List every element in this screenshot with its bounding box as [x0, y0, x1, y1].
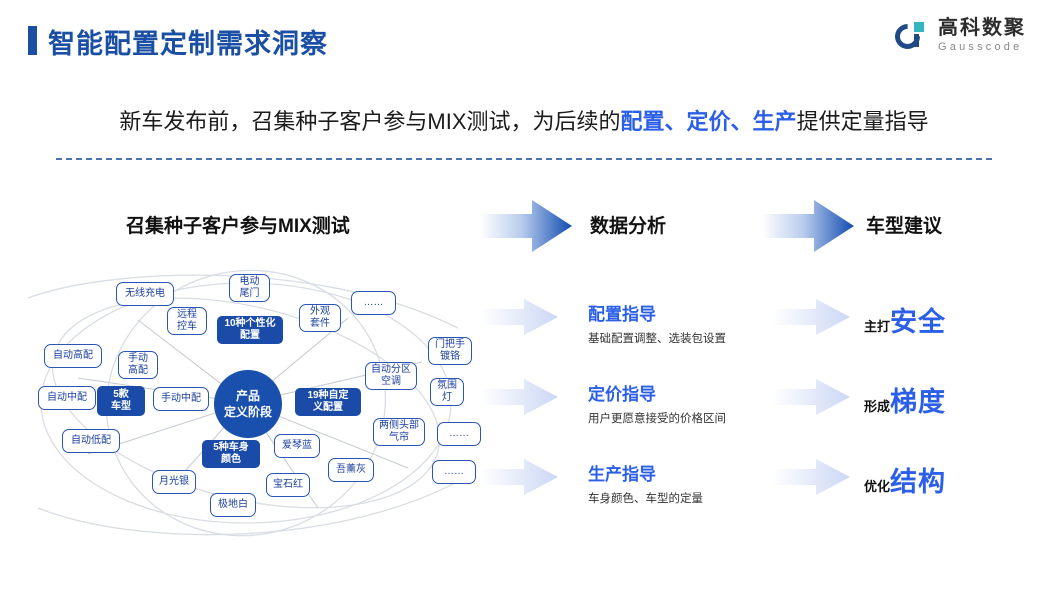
mindmap-node-head-airbags[interactable]: 两侧头部 气帘 [373, 418, 425, 446]
mindmap-core-node[interactable]: 产品 定义阶段 [214, 370, 282, 438]
row-arrow-icon-right-1 [772, 298, 850, 336]
advice-row-structure[interactable]: 优化 结构 [864, 460, 946, 499]
mindmap-node-power-tailgate[interactable]: 电动 尾门 [229, 274, 270, 302]
mindmap-badge-body-colors[interactable]: 5种车身 颜色 [202, 440, 260, 468]
row-arrow-icon-left-1 [480, 298, 558, 336]
mindmap-node-appearance-kit[interactable]: 外观 套件 [299, 304, 341, 332]
section-divider [56, 158, 992, 160]
mindmap-node-auto-high[interactable]: 自动高配 [44, 344, 102, 368]
analysis-row-config[interactable]: 配置指导 基础配置调整、选装包设置 [588, 300, 726, 346]
row-arrow-icon-right-3 [772, 458, 850, 496]
row-arrow-icon-left-3 [480, 458, 558, 496]
logo-glyph-icon [895, 19, 929, 53]
analysis-row-production[interactable]: 生产指导 车身颜色、车型的定量 [588, 460, 703, 506]
brand-logo: 高科数聚 Gausscode [895, 18, 1026, 53]
slide-root: 智能配置定制需求洞察 高科数聚 Gausscode 新车发布前，召集种子客户参与… [0, 0, 1048, 589]
analysis-title-production: 生产指导 [588, 460, 703, 485]
advice-prefix-safety: 主打 [864, 316, 890, 335]
subtitle-part2: 提供定量指导 [797, 109, 929, 134]
advice-prefix-structure: 优化 [864, 476, 890, 495]
mindmap-badge-models[interactable]: 5款 车型 [97, 386, 145, 416]
mindmap-node-auto-mid[interactable]: 自动中配 [38, 386, 96, 410]
advice-keyword-gradient: 梯度 [890, 380, 946, 419]
mindmap-node-manual-mid[interactable]: 手动中配 [153, 387, 209, 411]
column-heading-mix: 召集种子客户参与MIX测试 [126, 211, 350, 238]
mindmap-node-lavender-grey[interactable]: 吾薰灰 [328, 458, 374, 482]
flow-arrow-icon-1 [480, 198, 572, 254]
analysis-title-pricing: 定价指导 [588, 380, 726, 405]
analysis-desc-production: 车身颜色、车型的定量 [588, 490, 703, 506]
mindmap-node-ruby-red[interactable]: 宝石红 [266, 473, 310, 497]
mindmap-node-wireless-charging[interactable]: 无线充电 [116, 282, 174, 306]
title-accent-bar [28, 26, 37, 55]
advice-keyword-structure: 结构 [890, 460, 946, 499]
advice-keyword-safety: 安全 [890, 300, 946, 339]
advice-row-gradient[interactable]: 形成 梯度 [864, 380, 946, 419]
logo-name-cn: 高科数聚 [938, 18, 1026, 38]
page-title: 智能配置定制需求洞察 [48, 22, 328, 61]
mindmap-badge-personalized[interactable]: 10种个性化 配置 [217, 316, 283, 344]
mindmap-node-ambient-light[interactable]: 氛围 灯 [430, 378, 464, 406]
logo-bar-icon [914, 34, 919, 47]
mindmap-node-polar-white[interactable]: 极地白 [210, 493, 256, 517]
flow-arrow-icon-2 [762, 198, 854, 254]
logo-text: 高科数聚 Gausscode [938, 18, 1026, 53]
column-heading-analysis: 数据分析 [590, 211, 666, 238]
mindmap-node-chrome-door-handle[interactable]: 门把手 镀铬 [428, 337, 472, 365]
analysis-title-config: 配置指导 [588, 300, 726, 325]
mindmap: 产品 定义阶段 10种个性化 配置 19种自定 义配置 5款 车型 5种车身 颜… [18, 258, 488, 548]
mindmap-node-aegean-blue[interactable]: 爱琴蓝 [274, 434, 320, 458]
mindmap-node-ellipsis-right[interactable]: …… [437, 422, 481, 446]
mindmap-node-ellipsis-bottom[interactable]: …… [432, 460, 476, 484]
mindmap-node-auto-zone-ac[interactable]: 自动分区 空调 [365, 362, 417, 390]
subtitle-part1: 新车发布前，召集种子客户参与MIX测试，为后续的 [119, 109, 620, 134]
analysis-row-pricing[interactable]: 定价指导 用户更愿意接受的价格区间 [588, 380, 726, 426]
analysis-desc-config: 基础配置调整、选装包设置 [588, 330, 726, 346]
mindmap-node-auto-low[interactable]: 自动低配 [62, 429, 120, 453]
mindmap-node-moonlight-silver[interactable]: 月光银 [152, 470, 196, 494]
column-heading-advice: 车型建议 [866, 211, 942, 238]
logo-square-icon [914, 22, 924, 32]
subtitle-highlight: 配置、定价、生产 [621, 109, 797, 134]
subtitle-line: 新车发布前，召集种子客户参与MIX测试，为后续的配置、定价、生产提供定量指导 [0, 104, 1048, 136]
mindmap-node-ellipsis-top[interactable]: …… [351, 291, 396, 315]
row-arrow-icon-left-2 [480, 378, 558, 416]
logo-name-en: Gausscode [938, 42, 1026, 53]
advice-row-safety[interactable]: 主打 安全 [864, 300, 946, 339]
mindmap-badge-custom[interactable]: 19种自定 义配置 [295, 388, 361, 416]
analysis-desc-pricing: 用户更愿意接受的价格区间 [588, 410, 726, 426]
advice-prefix-gradient: 形成 [864, 396, 890, 415]
slide-header: 智能配置定制需求洞察 高科数聚 Gausscode [0, 0, 1048, 72]
mindmap-node-remote-control[interactable]: 远程 控车 [167, 307, 207, 335]
mindmap-node-manual-high[interactable]: 手动 高配 [118, 351, 158, 379]
row-arrow-icon-right-2 [772, 378, 850, 416]
